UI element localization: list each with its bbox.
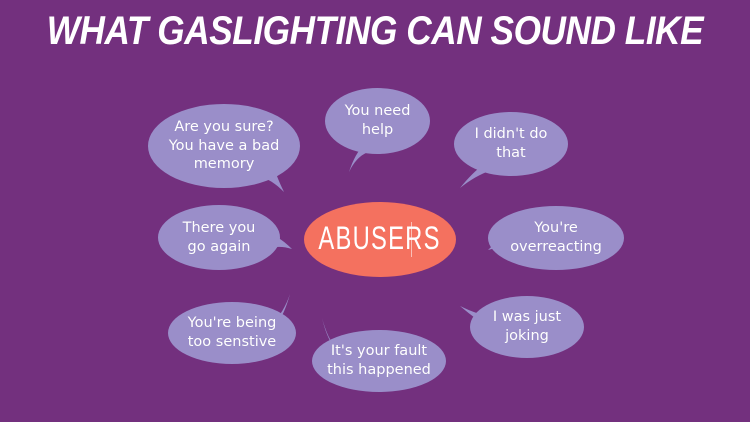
bubble-shape-its-your-fault	[312, 330, 446, 392]
speech-bubble-you-need-help: You need help	[325, 88, 430, 154]
speech-bubble-there-you-go-again: There you go again	[158, 205, 280, 270]
speech-bubble-its-your-fault: It's your fault this happened	[312, 330, 446, 392]
bubble-shape-are-you-sure	[148, 104, 300, 188]
bubble-shape-there-you-go-again	[158, 205, 280, 270]
center-node-abusers: ABUSERS	[304, 202, 456, 277]
speech-bubble-i-didnt-do-that: I didn't do that	[454, 112, 568, 176]
speech-bubble-youre-being-too-senstive: You're being too senstive	[168, 302, 296, 364]
speech-bubble-youre-overreacting: You're overreacting	[488, 206, 624, 270]
page-title: WHAT GASLIGHTING CAN SOUND LIKE	[45, 10, 705, 52]
bubble-shape-youre-being-too-senstive	[168, 302, 296, 364]
bubble-shape-you-need-help	[325, 88, 430, 154]
gaslighting-infographic: WHAT GASLIGHTING CAN SOUND LIKE Are you …	[0, 0, 750, 422]
bubble-shape-i-didnt-do-that	[454, 112, 568, 176]
bubble-shape-youre-overreacting	[488, 206, 624, 270]
center-node-label: ABUSERS	[319, 221, 441, 258]
text-caret	[411, 222, 412, 257]
bubble-shape-i-was-just-joking	[470, 296, 584, 358]
speech-bubble-are-you-sure: Are you sure? You have a bad memory	[148, 104, 300, 188]
speech-bubble-i-was-just-joking: I was just joking	[470, 296, 584, 358]
